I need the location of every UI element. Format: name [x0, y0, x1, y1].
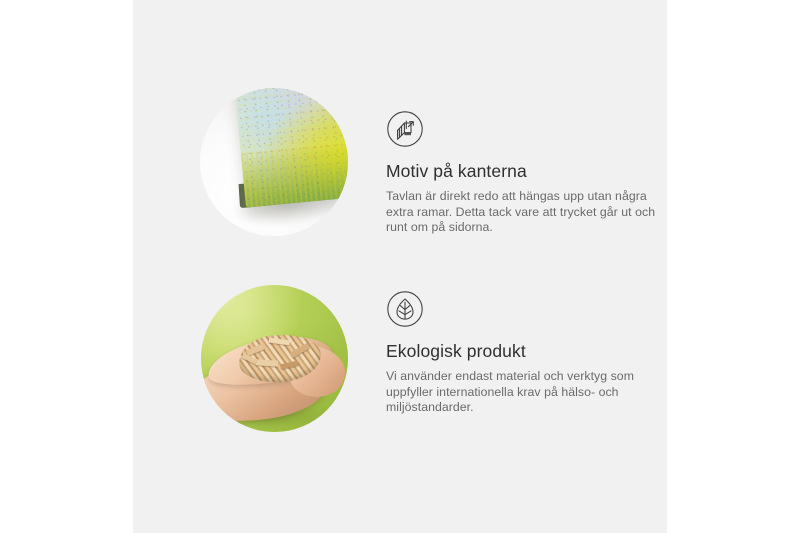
hands-with-wood-chips-photo [201, 285, 348, 432]
feature-title: Motiv på kanterna [386, 161, 656, 182]
canvas-paint-drip [241, 140, 348, 208]
feature-title: Ekologisk produkt [386, 341, 666, 362]
feature-description: Vi använder endast material och verktyg … [386, 369, 666, 416]
feature-text-eco: Ekologisk produkt Vi använder endast mat… [386, 290, 666, 416]
feature-text-edges: Motiv på kanterna Tavlan är direkt redo … [386, 110, 656, 236]
leaf-icon [386, 290, 424, 328]
content-panel: Motiv på kanterna Tavlan är direkt redo … [133, 0, 667, 533]
feature-description: Tavlan är direkt redo att hängas upp uta… [386, 189, 656, 236]
canvas-front-face [234, 88, 348, 208]
canvas-wrapped-edge-icon [386, 110, 424, 148]
canvas-print-edge-photo [200, 88, 348, 236]
infographic-stage: Motiv på kanterna Tavlan är direkt redo … [0, 0, 800, 533]
